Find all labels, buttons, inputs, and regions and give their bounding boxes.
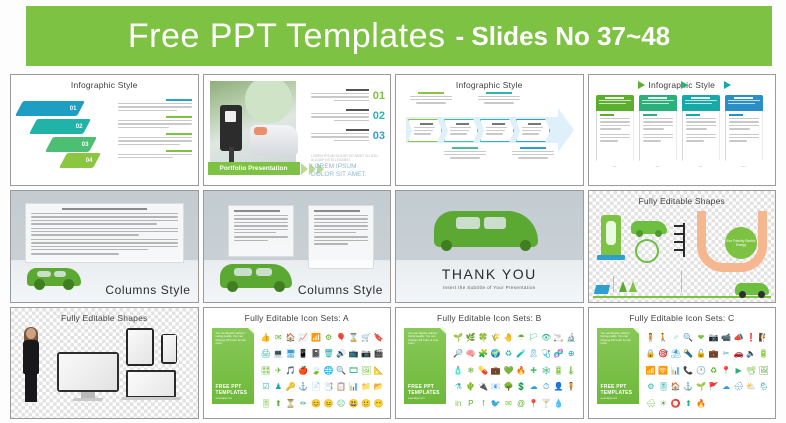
icon-glyph: ♻ xyxy=(710,367,717,375)
businesswoman-icon xyxy=(21,328,43,402)
circular-badge-icon xyxy=(635,239,659,263)
icon-set-b-grid: 🌱🌿🍀🌾🤚☂🏳👁🚬🔬🔎🧠🧩🌍♻🧪🎗🩺🧬⊕🧴❄💊💼💚🔥✚🕸🔋🌡⚗🌵🔌📧🌳💲☁⏱👤🧍… xyxy=(452,330,578,412)
wind-turbine-icon xyxy=(681,270,683,292)
slide-1-title: Infographic Style xyxy=(11,80,198,90)
icon-glyph: 🌵 xyxy=(466,383,476,391)
process-arrow-tip xyxy=(558,108,574,152)
icon-glyph: 📶 xyxy=(646,367,656,375)
icon-glyph: 🧍 xyxy=(646,334,656,342)
lorem-small: LOREM IPSUM DOLOR SIT AMET CU USU ALIQUI… xyxy=(311,154,385,163)
icon-glyph: 🙂 xyxy=(361,400,371,408)
icon-glyph: 🧍 xyxy=(566,383,576,391)
grass-suv-large-icon xyxy=(434,211,538,247)
icon-glyph: 🔓 xyxy=(696,350,706,358)
slide-1-text-column xyxy=(118,99,192,163)
banner-columns xyxy=(596,95,763,167)
card-micro-text: You can Resize without losing quality. Y… xyxy=(216,332,250,346)
icon-glyph: 🔦 xyxy=(683,350,693,358)
free-ppt-card: You can Resize without losing quality. Y… xyxy=(597,328,639,404)
icon-glyph: 🎬 xyxy=(374,350,384,358)
icon-glyph: 🚶 xyxy=(658,334,668,342)
icon-glyph: 🗑 xyxy=(323,350,333,358)
icon-glyph: ⚓ xyxy=(298,383,308,391)
icon-glyph: 🧩 xyxy=(478,350,488,358)
card-url: www.allppt.com xyxy=(408,397,442,400)
banner-title-sub: - Slides No 37~48 xyxy=(456,21,671,52)
icon-glyph: ⛅ xyxy=(746,383,756,391)
callout-3 xyxy=(444,147,486,159)
icon-glyph: 🌿 xyxy=(466,334,476,342)
icon-glyph: 💼 xyxy=(709,350,719,358)
icon-glyph: 📓 xyxy=(311,350,321,358)
icon-glyph: 🌧 xyxy=(734,383,744,391)
slide-row-1: Infographic Style 01 02 03 04 xyxy=(10,74,776,186)
icon-glyph: 😶 xyxy=(374,400,384,408)
callout-1 xyxy=(410,92,452,104)
icon-glyph: ⊕ xyxy=(568,350,575,358)
icon-glyph: 🛜 xyxy=(658,367,668,375)
ribbon-01-label: 01 xyxy=(70,106,77,112)
icon-glyph: 💲 xyxy=(516,383,526,391)
slide-thumbnail-3[interactable]: Infographic Style xyxy=(395,74,584,186)
icon-glyph: 🏳 xyxy=(528,334,538,342)
icon-glyph: 🌨 xyxy=(646,400,656,408)
numbered-list: 01 02 03 xyxy=(293,89,385,149)
icon-glyph: 🧗 xyxy=(759,334,769,342)
icon-set-c-grid: 🧍🚶♂🔍❤📷📹📣❗🧗🔒🎯⛱🔦🔓💼✂🚗🔈🔋📶🛜📊📞🕐♻📍▶📽🖼⚙🎚🏠⚓🌱🚩☁🌧⛅🌦… xyxy=(645,330,771,412)
slide-thumbnail-7[interactable]: THANK YOU Insert the Subtitle of Your Pr… xyxy=(395,190,584,302)
icon-glyph: 📈 xyxy=(298,334,308,342)
icon-glyph: 📄 xyxy=(311,383,321,391)
icon-glyph: ⚙ xyxy=(325,334,332,342)
icon-glyph: 🖼 xyxy=(759,367,769,375)
icon-glyph: ⚓ xyxy=(683,383,693,391)
tree-icon xyxy=(619,281,627,292)
icon-glyph: 🩺 xyxy=(541,350,551,358)
slide-grid: Infographic Style 01 02 03 04 xyxy=(8,74,778,419)
portfolio-banner: Portfolio Presentation xyxy=(208,162,300,175)
icon-glyph: 🍃 xyxy=(311,367,321,375)
icon-glyph: 📽 xyxy=(746,367,756,375)
icon-glyph: ☀ xyxy=(660,400,667,408)
tablet-icon xyxy=(126,328,154,366)
icon-glyph: 📐 xyxy=(374,367,384,375)
icon-glyph: @ xyxy=(517,400,525,408)
grass-suv-icon xyxy=(220,264,292,288)
arrow-icon-2 xyxy=(681,81,688,89)
icon-glyph: 📷 xyxy=(709,334,719,342)
icon-glyph: 🤚 xyxy=(503,334,513,342)
icon-glyph: 🖨 xyxy=(261,350,271,358)
icon-glyph: ✏ xyxy=(300,400,307,408)
thank-you-text: THANK YOU xyxy=(396,266,583,282)
card-heading-left xyxy=(234,210,280,212)
icon-glyph: 🌳 xyxy=(503,383,513,391)
icon-glyph: 🎚 xyxy=(261,400,271,408)
monitor-base xyxy=(73,398,103,401)
icon-glyph: 🧪 xyxy=(516,350,526,358)
icon-glyph: 🔊 xyxy=(336,350,346,358)
icon-glyph: ☹ xyxy=(337,400,345,408)
icon-glyph: 🖥 xyxy=(286,350,296,358)
icon-glyph: 🌐 xyxy=(324,367,334,375)
card-url: www.allppt.com xyxy=(216,397,250,400)
slide-11-title: Fully Editable Icon Sets: B xyxy=(396,313,583,323)
laptop-icon xyxy=(126,370,176,398)
numbered-item: 01 xyxy=(293,89,385,103)
ribbon-group: 01 02 03 04 xyxy=(19,97,111,177)
desktop-monitor-icon xyxy=(57,352,119,392)
slide-row-3: Fully Editable Shapes Fully Editable Ico… xyxy=(10,307,776,419)
icon-glyph: 💻 xyxy=(273,350,283,358)
icon-glyph: 📁 xyxy=(361,383,371,391)
icon-glyph: ♻ xyxy=(505,350,512,358)
thank-you-subtitle: Insert the Subtitle of Your Presentation xyxy=(396,285,583,290)
icon-glyph: 📍 xyxy=(529,400,539,408)
callout-2 xyxy=(478,92,520,104)
slide-thumbnail-9[interactable]: Fully Editable Shapes xyxy=(10,307,199,419)
icon-glyph: 🕐 xyxy=(696,367,706,375)
grass-car-icon xyxy=(27,268,81,286)
charging-station-icon xyxy=(601,215,621,257)
icon-glyph: 📞 xyxy=(683,367,693,375)
card-heading: FREE PPT TEMPLATES xyxy=(216,384,250,396)
numbered-item: 02 xyxy=(293,109,385,123)
number-02: 02 xyxy=(373,110,385,122)
wind-turbine-icon xyxy=(613,276,615,292)
icon-glyph: in xyxy=(455,400,461,408)
free-ppt-card: You can Resize without losing quality. Y… xyxy=(404,328,446,404)
callout-4 xyxy=(512,147,554,159)
icon-glyph: 📊 xyxy=(671,367,681,375)
icon-glyph: ⛱ xyxy=(671,350,681,358)
icon-glyph: ⌛ xyxy=(349,334,359,342)
ribbon-03: 03 xyxy=(45,137,97,152)
lorem-block: LOREM IPSUM DOLOR SIT AMET CU USU ALIQUI… xyxy=(311,154,385,180)
charging-station-base xyxy=(597,255,625,260)
icon-glyph: ⬆ xyxy=(275,400,282,408)
ribbon-02-label: 02 xyxy=(76,124,83,130)
icon-glyph: 🎗 xyxy=(528,350,538,358)
icon-glyph: 📱 xyxy=(298,350,308,358)
content-card-right xyxy=(308,205,374,269)
icon-glyph: ⏱ xyxy=(543,383,549,391)
card-heading: FREE PPT TEMPLATES xyxy=(408,384,442,396)
laptop-base xyxy=(121,397,181,400)
icon-glyph: 🔌 xyxy=(478,383,488,391)
slide-9-title: Fully Editable Shapes xyxy=(11,313,198,323)
banner-column-1 xyxy=(596,95,634,167)
icon-glyph: ▶ xyxy=(736,367,742,375)
icon-glyph: 🔒 xyxy=(646,350,656,358)
icon-glyph: 🧬 xyxy=(554,350,564,358)
ev-charging-photo xyxy=(210,81,296,167)
icon-glyph: 🔋 xyxy=(759,350,769,358)
icon-glyph: ☁ xyxy=(530,383,538,391)
slide-thumbnail-4[interactable]: Infographic Style xyxy=(588,74,777,186)
slide-thumbnail-12[interactable]: Fully Editable Icon Sets: C You can Resi… xyxy=(588,307,777,419)
slide-thumbnail-11[interactable]: Fully Editable Icon Sets: B You can Resi… xyxy=(395,307,584,419)
icon-glyph: ✉ xyxy=(505,400,512,408)
icon-set-a-grid: 👍✉🏠📈📶⚙🎈⌛🛒🔖🖨💻🖥📱📓🗑🔊📺📷🎬🎛✈🎵🍎🍃🌐🔍🎞🖼📐☑♟🔑⚓📄📑📋📊📁📂… xyxy=(260,330,386,412)
icon-glyph: ⏳ xyxy=(286,400,296,408)
ribbon-04-label: 04 xyxy=(86,158,93,164)
icon-glyph: 🍀 xyxy=(478,334,488,342)
icon-glyph: 🌍 xyxy=(491,350,501,358)
slide-5-footer-title: Columns Style xyxy=(105,283,190,297)
icon-glyph: 👍 xyxy=(261,334,271,342)
banner-column-3 xyxy=(682,95,720,167)
icon-glyph: 🏠 xyxy=(671,383,681,391)
icon-glyph: 📣 xyxy=(734,334,744,342)
icon-glyph: P xyxy=(468,400,473,408)
solar-panel-icon xyxy=(593,285,609,294)
number-01: 01 xyxy=(373,90,385,102)
icon-glyph: 🛒 xyxy=(361,334,371,342)
numbered-item: 03 xyxy=(293,129,385,143)
icon-glyph: ❄ xyxy=(467,367,474,375)
content-card xyxy=(25,203,184,263)
slide-8-title: Fully Editable Shapes xyxy=(589,196,776,206)
icon-glyph: 🎵 xyxy=(286,367,296,375)
free-ppt-card: You can Resize without losing quality. Y… xyxy=(212,328,254,404)
icon-glyph: 🐦 xyxy=(491,400,501,408)
icon-glyph: 🔍 xyxy=(683,334,693,342)
icon-glyph: 😊 xyxy=(311,400,321,408)
icon-glyph: ⚙ xyxy=(647,383,654,391)
icon-glyph: 🌱 xyxy=(453,334,463,342)
screenshot-root: Free PPT Templates - Slides No 37~48 Inf… xyxy=(0,0,786,423)
step-4 xyxy=(516,119,550,142)
icon-glyph: 🔥 xyxy=(516,367,526,375)
step-1 xyxy=(408,119,442,142)
text-block xyxy=(118,133,192,145)
icon-glyph: ⚗ xyxy=(455,383,462,391)
icon-glyph: ♟ xyxy=(275,383,282,391)
icon-glyph: 🕸 xyxy=(541,367,551,375)
icon-glyph: 📋 xyxy=(336,383,346,391)
card-heading xyxy=(62,208,147,210)
number-03: 03 xyxy=(373,130,385,142)
icon-glyph: 📍 xyxy=(721,367,731,375)
car-mirror xyxy=(254,127,267,135)
slide-10-title: Fully Editable Icon Sets: A xyxy=(204,313,391,323)
icon-glyph: 🔍 xyxy=(336,367,346,375)
card-micro-text: You can Resize without losing quality. Y… xyxy=(601,332,635,346)
icon-glyph: 🌾 xyxy=(491,334,501,342)
green-car-icon xyxy=(735,283,769,295)
icon-glyph: 😃 xyxy=(349,400,359,408)
slide-thumbnail-10[interactable]: Fully Editable Icon Sets: A You can Resi… xyxy=(203,307,392,419)
icon-glyph: 🖼 xyxy=(361,367,371,375)
slide-thumbnail-6[interactable]: Columns Style xyxy=(203,190,392,302)
banner-title-main: Free PPT Templates xyxy=(128,17,446,56)
icon-glyph: 🏠 xyxy=(286,334,296,342)
icon-glyph: 😐 xyxy=(324,400,334,408)
tree-icon xyxy=(629,281,637,292)
icon-glyph: 💼 xyxy=(491,367,501,375)
icon-glyph: 💚 xyxy=(503,367,513,375)
card-url: www.allppt.com xyxy=(601,397,635,400)
icon-glyph: 🧠 xyxy=(466,350,476,358)
banner-column-2 xyxy=(639,95,677,167)
icon-glyph: 💧 xyxy=(554,400,564,408)
icon-glyph: 🚬 xyxy=(554,334,564,342)
icon-glyph: 🔖 xyxy=(374,334,384,342)
icon-glyph: ☂ xyxy=(517,334,524,342)
icon-glyph: 🔈 xyxy=(746,350,756,358)
icon-glyph: 🔋 xyxy=(554,367,564,375)
slide-12-title: Fully Editable Icon Sets: C xyxy=(589,313,776,323)
icon-glyph: 🎯 xyxy=(658,350,668,358)
card-heading: FREE PPT TEMPLATES xyxy=(601,384,635,396)
icon-glyph: 🔎 xyxy=(453,350,463,358)
card-heading-right xyxy=(314,210,360,212)
icon-glyph: 📹 xyxy=(721,334,731,342)
icon-glyph: 🎚 xyxy=(658,383,668,391)
slide-thumbnail-8[interactable]: Fully Editable Shapes Eco Friendly Elect… xyxy=(588,190,777,302)
smartphone-icon xyxy=(161,334,177,364)
text-block xyxy=(118,150,192,159)
ribbon-02: 02 xyxy=(29,119,91,134)
icon-glyph: f xyxy=(482,400,484,408)
icon-glyph: ♂ xyxy=(673,334,679,342)
icon-glyph: ☁ xyxy=(722,383,730,391)
slide-6-footer-title: Columns Style xyxy=(298,283,383,297)
icon-glyph: ❤ xyxy=(698,334,705,342)
icon-glyph: 🎈 xyxy=(336,334,346,342)
icon-glyph: 🧴 xyxy=(453,367,463,375)
charger-icon xyxy=(220,105,242,151)
icon-glyph: 🌦 xyxy=(759,383,769,391)
icon-glyph: 🔬 xyxy=(566,334,576,342)
icon-glyph: 📺 xyxy=(349,350,359,358)
icon-glyph: ✚ xyxy=(530,367,537,375)
slide-thumbnail-2[interactable]: 01 02 03 Portfolio Presentation LOREM IP… xyxy=(203,74,392,186)
icon-glyph: 👁 xyxy=(541,334,551,342)
slide-row-2: Columns Style Columns Styl xyxy=(10,190,776,302)
icon-glyph: ❗ xyxy=(746,334,756,342)
slide-3-title: Infographic Style xyxy=(396,80,583,90)
icon-glyph: ✉ xyxy=(275,334,282,342)
icon-glyph: 🌡 xyxy=(566,367,576,375)
page-title-banner: Free PPT Templates - Slides No 37~48 xyxy=(26,6,772,66)
icon-glyph: 📶 xyxy=(311,334,321,342)
icon-glyph: 📂 xyxy=(374,383,384,391)
banner-column-4 xyxy=(725,95,763,167)
electric-car-icon xyxy=(631,221,667,234)
ribbon-04: 04 xyxy=(59,153,101,168)
slide-thumbnail-1[interactable]: Infographic Style 01 02 03 04 xyxy=(10,74,199,186)
icon-glyph: ☑ xyxy=(262,383,269,391)
arrow-icon-1 xyxy=(638,81,645,89)
icon-glyph: 🎞 xyxy=(349,367,359,375)
step-2 xyxy=(444,119,478,142)
step-3 xyxy=(480,119,514,142)
icon-glyph: ✂ xyxy=(723,350,730,358)
text-block xyxy=(118,116,192,128)
icon-glyph: 📑 xyxy=(324,383,334,391)
icon-glyph: 🔑 xyxy=(286,383,296,391)
globe-label: Eco Friendly Electric Energy xyxy=(726,239,756,247)
ribbon-01: 01 xyxy=(15,101,85,116)
icon-glyph: 🎛 xyxy=(261,367,271,375)
icon-glyph: ✈ xyxy=(275,367,282,375)
content-card-left xyxy=(228,205,294,257)
icon-glyph: 📷 xyxy=(361,350,371,358)
icon-glyph: 📧 xyxy=(491,383,501,391)
icon-glyph: 🍸 xyxy=(541,400,551,408)
icon-glyph: 🚩 xyxy=(709,383,719,391)
slide-thumbnail-5[interactable]: Columns Style xyxy=(10,190,199,302)
ribbon-03-label: 03 xyxy=(82,142,89,148)
icon-glyph: 🍎 xyxy=(298,367,308,375)
lorem-line-1: LOREM IPSUM xyxy=(311,163,385,171)
icon-glyph: 👤 xyxy=(554,383,564,391)
plug-cable-icon xyxy=(667,223,685,257)
lorem-line-2: DOLOR SIT AMET. xyxy=(311,171,385,179)
icon-glyph: 🚗 xyxy=(734,350,744,358)
process-steps xyxy=(408,119,550,142)
icon-glyph: 📊 xyxy=(349,383,359,391)
icon-glyph: 🌱 xyxy=(696,383,706,391)
icon-glyph: 💊 xyxy=(478,367,488,375)
icon-glyph: ⬆ xyxy=(685,400,692,408)
card-micro-text: You can Resize without losing quality. Y… xyxy=(408,332,442,346)
arrow-icon-3 xyxy=(724,81,731,89)
text-block xyxy=(118,99,192,111)
icon-glyph: ⭕ xyxy=(671,400,681,408)
icon-glyph: 🔥 xyxy=(696,400,706,408)
